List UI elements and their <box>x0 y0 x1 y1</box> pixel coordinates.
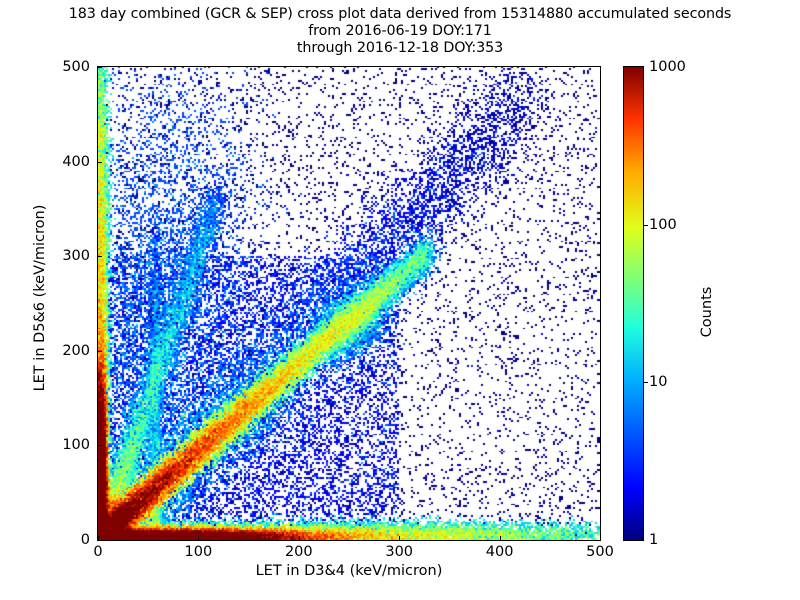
colorbar-gradient <box>624 67 643 540</box>
y-tick-mark <box>98 351 102 352</box>
y-axis-label: LET in D5&6 (keV/micron) <box>32 138 48 458</box>
x-tick-mark <box>500 536 501 540</box>
y-tick-mark <box>98 256 102 257</box>
x-axis-label: LET in D3&4 (keV/micron) <box>97 563 601 579</box>
colorbar-tick-mark <box>643 225 648 226</box>
colorbar[interactable] <box>623 66 644 541</box>
colorbar-label: Counts <box>699 232 715 392</box>
x-tick-label: 400 <box>486 544 514 560</box>
density-scatter-plot <box>98 67 600 540</box>
y-tick-mark <box>98 67 102 68</box>
x-tick-label: 200 <box>285 544 313 560</box>
x-tick-mark <box>600 536 601 540</box>
title-line-2: from 2016-06-19 DOY:171 <box>0 23 800 40</box>
x-tick-label: 0 <box>93 544 102 560</box>
x-tick-label: 500 <box>586 544 614 560</box>
x-tick-label: 300 <box>385 544 413 560</box>
colorbar-tick-label: 1000 <box>649 59 686 75</box>
title-line-1: 183 day combined (GCR & SEP) cross plot … <box>0 6 800 23</box>
y-tick-mark <box>98 162 102 163</box>
y-tick-label: 500 <box>35 59 90 75</box>
colorbar-tick-label: 10 <box>649 374 667 390</box>
x-tick-mark <box>399 536 400 540</box>
figure-canvas: 183 day combined (GCR & SEP) cross plot … <box>0 0 800 600</box>
plot-area[interactable] <box>97 66 601 541</box>
y-tick-mark <box>98 445 102 446</box>
colorbar-tick-mark <box>643 382 648 383</box>
y-tick-label: 0 <box>35 532 90 548</box>
colorbar-tick-label: 1 <box>649 532 658 548</box>
chart-title: 183 day combined (GCR & SEP) cross plot … <box>0 6 800 57</box>
colorbar-tick-label: 100 <box>649 217 677 233</box>
x-tick-label: 100 <box>185 544 213 560</box>
title-line-3: through 2016-12-18 DOY:353 <box>0 40 800 57</box>
x-tick-mark <box>299 536 300 540</box>
x-tick-mark <box>198 536 199 540</box>
y-tick-mark <box>98 540 102 541</box>
